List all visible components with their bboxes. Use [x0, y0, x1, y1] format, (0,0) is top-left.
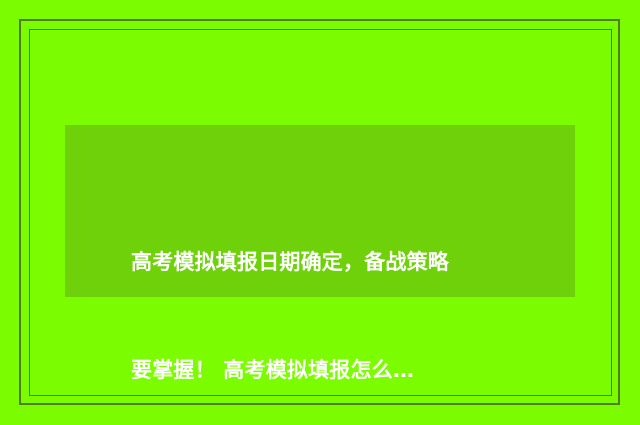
article-thumbnail-card: 高考模拟填报日期确定，备战策略 要掌握！ 高考模拟填报怎么… — [0, 0, 640, 425]
headline-text-block: 高考模拟填报日期确定，备战策略 要掌握！ 高考模拟填报怎么… — [131, 172, 531, 425]
headline-line-1: 高考模拟填报日期确定，备战策略 — [131, 244, 531, 280]
headline-line-2: 要掌握！ 高考模拟填报怎么… — [131, 352, 531, 388]
